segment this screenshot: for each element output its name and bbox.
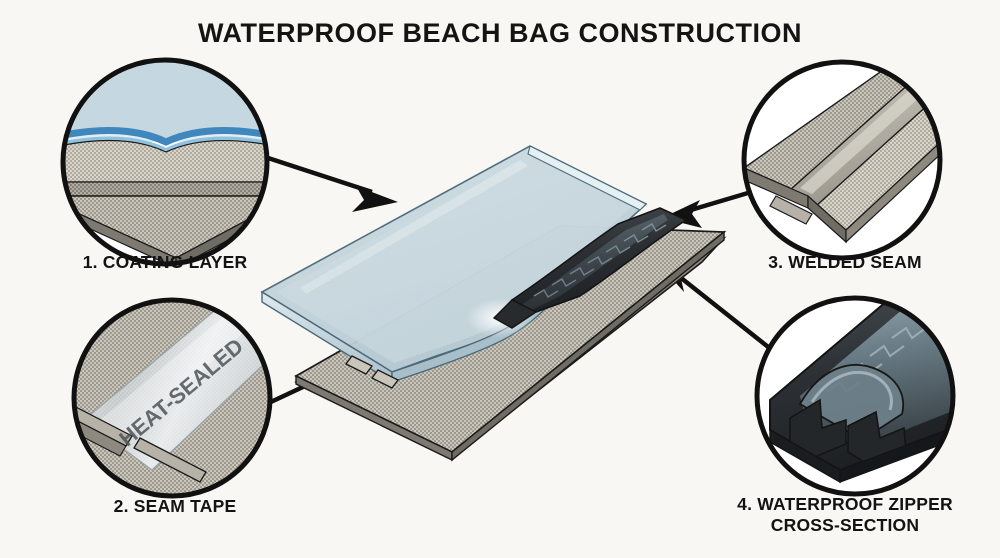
- diagram-canvas: HEAT-SEALED: [0, 0, 1000, 558]
- construction-diagram-art: HEAT-SEALED: [0, 0, 1000, 558]
- callout-label-welded-seam: 3. WELDED SEAM: [700, 252, 990, 273]
- callout-label-seam-tape: 2. SEAM TAPE: [30, 496, 320, 517]
- callout-label-zipper-line2: CROSS-SECTION: [690, 515, 1000, 536]
- callout-label-coating-layer: 1. COATING LAYER: [20, 252, 310, 273]
- callout-label-zipper-line1: 4. WATERPROOF ZIPPER: [690, 494, 1000, 515]
- callout-label-waterproof-zipper: 4. WATERPROOF ZIPPER CROSS-SECTION: [690, 494, 1000, 537]
- page-title: WATERPROOF BEACH BAG CONSTRUCTION: [0, 18, 1000, 49]
